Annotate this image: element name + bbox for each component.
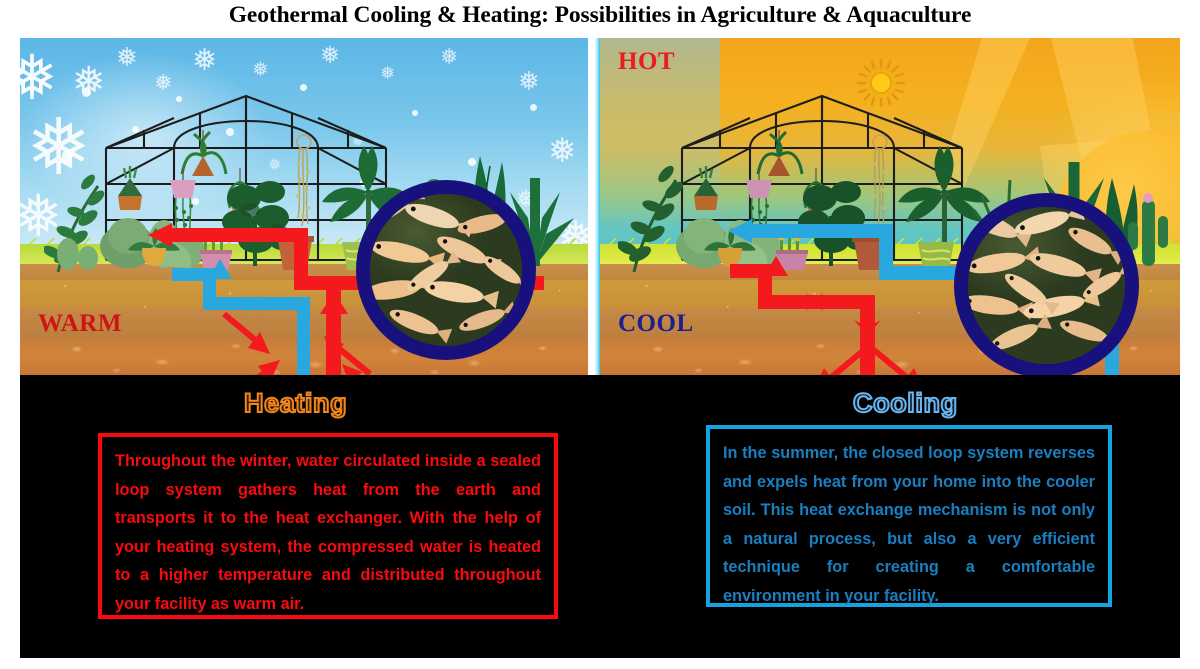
snow-dot bbox=[412, 110, 418, 116]
heating-description-box: Throughout the winter, water circulated … bbox=[98, 433, 558, 619]
winter-scene-panel: ❅ ❅ ❅ ❅ ❅ ❅ ❅ ❅ ❅ ❅ ❅ ❅ ❅ ❅ ❅ ❅ ❅ bbox=[20, 38, 588, 375]
fish-tank-icon bbox=[356, 180, 536, 360]
lower-text-section: Heating Cooling Throughout the winter, w… bbox=[20, 375, 1180, 658]
cool-supply-pipe-horizontal bbox=[748, 224, 893, 238]
heat-arrow-icon bbox=[808, 346, 870, 375]
cool-return-pipe-down bbox=[297, 297, 310, 375]
snow-dot bbox=[82, 88, 91, 97]
snowflake-icon: ❅ bbox=[440, 46, 458, 68]
snowflake-icon: ❅ bbox=[518, 68, 540, 94]
heat-supply-arrow-left bbox=[146, 220, 176, 250]
infographic-board: ❅ ❅ ❅ ❅ ❅ ❅ ❅ ❅ ❅ ❅ ❅ ❅ ❅ ❅ ❅ ❅ ❅ bbox=[20, 38, 1180, 658]
infographic-page: Geothermal Cooling & Heating: Possibilit… bbox=[0, 0, 1200, 669]
cooling-description-text: In the summer, the closed loop system re… bbox=[723, 439, 1095, 610]
summer-scene-panel: HOT COOL bbox=[600, 38, 1180, 375]
plant-vine-left bbox=[618, 154, 692, 277]
cool-supply-arrow-left bbox=[726, 216, 756, 246]
heating-description-text: Throughout the winter, water circulated … bbox=[115, 447, 541, 618]
heat-arrow-icon bbox=[868, 346, 930, 375]
snowflake-icon: ❅ bbox=[252, 60, 269, 80]
snowflake-icon: ❅ bbox=[192, 46, 217, 76]
scene-strip: ❅ ❅ ❅ ❅ ❅ ❅ ❅ ❅ ❅ ❅ ❅ ❅ ❅ ❅ ❅ ❅ ❅ bbox=[20, 38, 1180, 375]
heat-supply-pipe-horizontal bbox=[168, 228, 308, 242]
snowflake-icon: ❅ bbox=[20, 48, 58, 110]
heat-riser-arrow-up bbox=[318, 290, 350, 316]
heat-arrow-icon bbox=[338, 360, 394, 375]
heat-down-chevron bbox=[851, 316, 884, 342]
heat-arrow-icon bbox=[228, 356, 288, 375]
page-title: Geothermal Cooling & Heating: Possibilit… bbox=[0, 2, 1200, 29]
heat-arrow-icon bbox=[220, 310, 280, 360]
heating-heading: Heating bbox=[244, 388, 347, 419]
plant-cactus-edge bbox=[52, 224, 106, 275]
snowflake-icon: ❅ bbox=[116, 44, 138, 70]
heat-flow-chevron bbox=[802, 290, 842, 314]
snow-dot bbox=[530, 104, 537, 111]
snowflake-icon: ❅ bbox=[380, 64, 395, 82]
panel-divider bbox=[588, 38, 600, 375]
fish-tank-icon bbox=[954, 193, 1139, 375]
label-warm: WARM bbox=[38, 310, 122, 338]
label-cool: COOL bbox=[618, 310, 694, 338]
cooling-description-box: In the summer, the closed loop system re… bbox=[706, 425, 1112, 607]
cooling-heading: Cooling bbox=[853, 388, 958, 419]
label-hot: HOT bbox=[618, 48, 675, 76]
snowflake-icon: ❅ bbox=[320, 44, 340, 68]
